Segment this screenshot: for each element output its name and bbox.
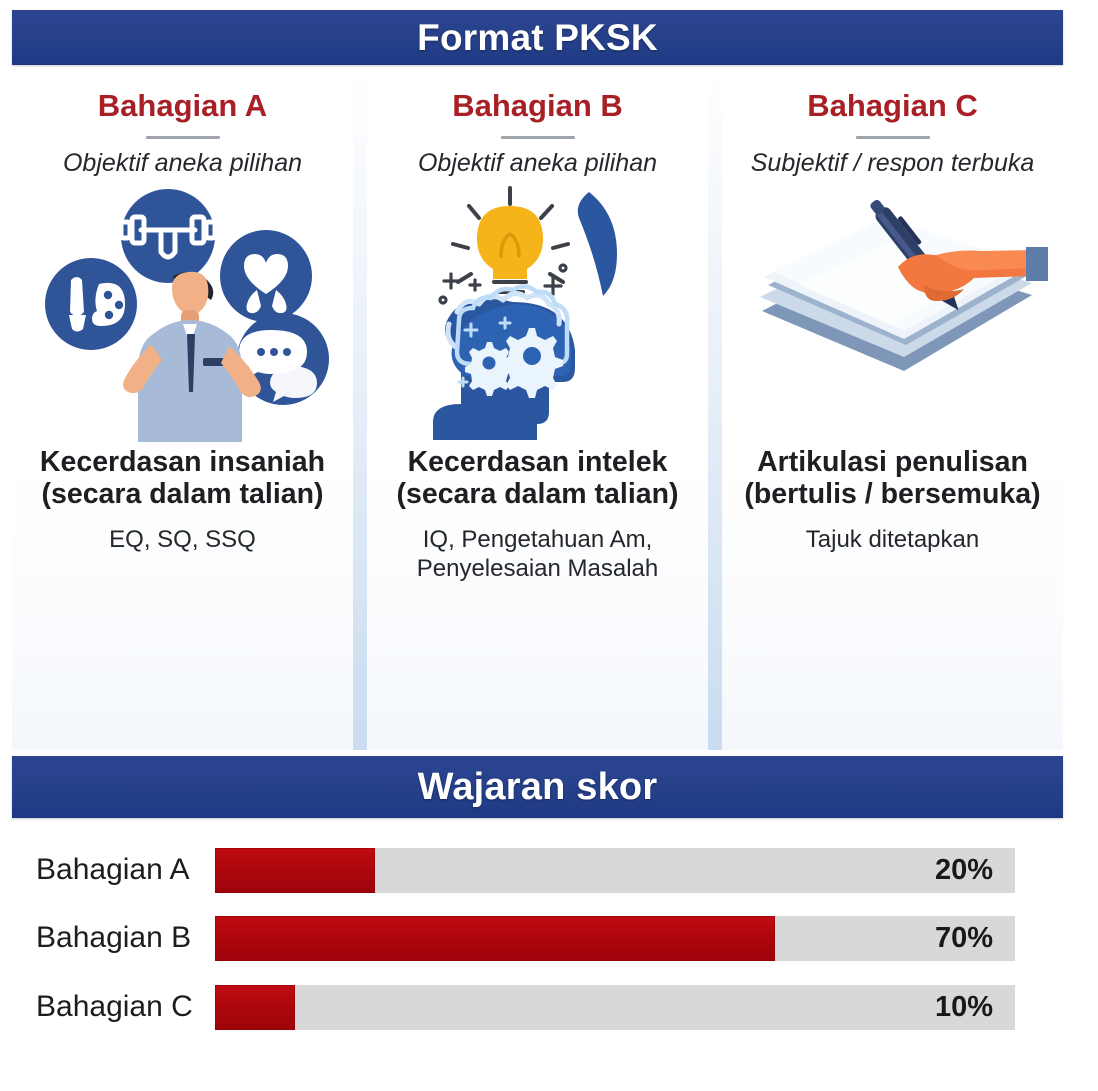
format-columns: Bahagian A Objektif aneka pilihan: [12, 68, 1063, 750]
bar-value-c: 10%: [935, 991, 1015, 1024]
page-title: Format PKSK: [417, 17, 658, 59]
infographic-page: Format PKSK Bahagian A Objektif aneka pi…: [0, 0, 1098, 1091]
column-c-title: Bahagian C: [807, 90, 978, 123]
column-bahagian-a: Bahagian A Objektif aneka pilihan: [12, 68, 353, 750]
bar-row: Bahagian A 20%: [0, 844, 1098, 896]
header-banner: Format PKSK: [12, 10, 1063, 65]
hand-writing-on-paper-illustration: [722, 180, 1063, 446]
column-a-title: Bahagian A: [98, 90, 267, 123]
column-c-subtitle: Subjektif / respon terbuka: [751, 149, 1035, 179]
column-b-note: IQ, Pengetahuan Am, Penyelesaian Masalah: [388, 526, 688, 584]
bar-value-b: 70%: [935, 922, 1015, 955]
bar-label-c: Bahagian C: [0, 990, 215, 1024]
column-bahagian-b: Bahagian B Objektif aneka pilihan: [367, 68, 708, 750]
bar-fill-b: [215, 916, 775, 961]
column-b-divider: [501, 136, 575, 139]
column-a-divider: [146, 136, 220, 139]
bar-track-b: 70%: [215, 916, 1015, 961]
column-bahagian-c: Bahagian C Subjektif / respon terbuka: [722, 68, 1063, 750]
column-a-note: EQ, SQ, SSQ: [109, 526, 256, 555]
bar-row: Bahagian B 70%: [0, 912, 1098, 964]
column-c-main-text: Artikulasi penulisan (bertulis / bersemu…: [743, 446, 1043, 510]
bar-row: Bahagian C 10%: [0, 981, 1098, 1033]
head-brain-gears-lightbulb-illustration: [367, 180, 708, 446]
column-b-main-text: Kecerdasan intelek (secara dalam talian): [388, 446, 688, 510]
bar-value-a: 20%: [935, 854, 1015, 887]
bar-track-c: 10%: [215, 985, 1015, 1030]
scores-banner: Wajaran skor: [12, 756, 1063, 818]
score-weighting-chart: Bahagian A 20% Bahagian B 70% Bahagian C…: [0, 836, 1098, 1051]
column-a-subtitle: Objektif aneka pilihan: [63, 149, 302, 179]
column-a-main-text: Kecerdasan insaniah (secara dalam talian…: [33, 446, 333, 510]
column-b-subtitle: Objektif aneka pilihan: [418, 149, 657, 179]
column-divider-2: [708, 68, 722, 750]
column-divider-1: [353, 68, 367, 750]
bar-label-a: Bahagian A: [0, 853, 215, 887]
person-with-skill-icons-illustration: [12, 180, 353, 446]
bar-label-b: Bahagian B: [0, 921, 215, 955]
bar-track-a: 20%: [215, 848, 1015, 893]
bar-fill-a: [215, 848, 375, 893]
column-b-title: Bahagian B: [452, 90, 623, 123]
column-c-note: Tajuk ditetapkan: [806, 526, 979, 555]
column-c-divider: [856, 136, 930, 139]
scores-title: Wajaran skor: [418, 766, 658, 809]
bar-fill-c: [215, 985, 295, 1030]
